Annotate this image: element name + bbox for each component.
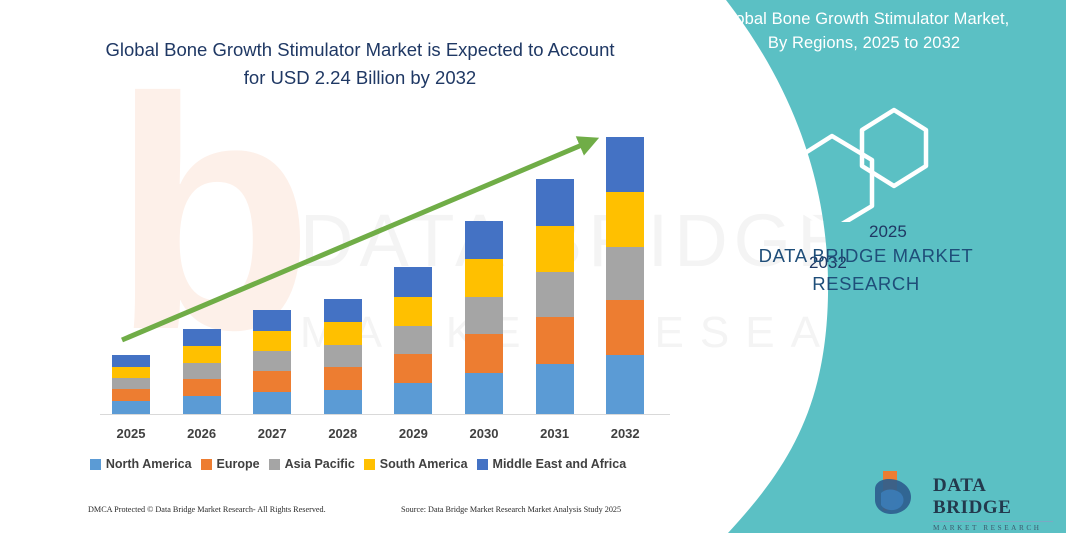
dbmr-logo-text: DATA BRIDGE MARKET RESEARCH (933, 475, 1056, 532)
regions-title-line-1: Global Bone Growth Stimulator Market, (719, 10, 1010, 28)
dbmr-logo: DATA BRIDGE MARKET RESEARCH (871, 467, 1056, 523)
regions-title-line-2: By Regions, 2025 to 2032 (684, 32, 1044, 56)
dbmr-logo-name: DATA BRIDGE (933, 475, 1056, 519)
chart-pane: b DATA BRIDGE MARKET RESEARCH Global Bon… (0, 0, 716, 533)
legend-swatch-icon (90, 459, 101, 470)
x-axis-label-2029: 2029 (383, 426, 443, 441)
x-axis-label-2032: 2032 (595, 426, 655, 441)
x-axis-label-2030: 2030 (454, 426, 514, 441)
legend-label: Asia Pacific (285, 457, 355, 471)
dbmr-logo-mark-icon (871, 467, 929, 519)
x-axis-label-2026: 2026 (172, 426, 232, 441)
legend-item: Middle East and Africa (477, 457, 627, 471)
brand-name: DATA BRIDGE MARKET RESEARCH (666, 242, 1066, 298)
x-axis-label-2025: 2025 (101, 426, 161, 441)
growth-trend-arrow (0, 0, 716, 470)
plot-area (0, 0, 716, 470)
infographic-root: b DATA BRIDGE MARKET RESEARCH Global Bon… (0, 0, 1066, 533)
hexagon-group: 2025 2032 (666, 92, 1066, 212)
dbmr-logo-subtitle: MARKET RESEARCH (933, 524, 1056, 532)
x-axis-labels: 20252026202720282029203020312032 (0, 426, 716, 446)
brand-line-1: DATA BRIDGE MARKET (666, 242, 1066, 270)
legend-item: Asia Pacific (269, 457, 355, 471)
footer: DMCA Protected © Data Bridge Market Rese… (0, 505, 716, 527)
legend-swatch-icon (269, 459, 280, 470)
chart-legend: North AmericaEuropeAsia PacificSouth Ame… (0, 457, 716, 471)
x-axis-label-2027: 2027 (242, 426, 302, 441)
legend-label: Europe (217, 457, 260, 471)
legend-label: North America (106, 457, 192, 471)
legend-item: Europe (201, 457, 260, 471)
legend-item: South America (364, 457, 468, 471)
legend-label: Middle East and Africa (493, 457, 627, 471)
regions-panel-content: Global Bone Growth Stimulator Market, By… (666, 0, 1066, 533)
brand-line-2: RESEARCH (666, 270, 1066, 298)
hexagon-label-2025: 2025 (869, 222, 907, 242)
legend-swatch-icon (477, 459, 488, 470)
footer-source: Source: Data Bridge Market Research Mark… (401, 505, 621, 514)
legend-item: North America (90, 457, 192, 471)
hexagon-shapes (666, 92, 1066, 222)
regions-panel-title: Global Bone Growth Stimulator Market, By… (684, 8, 1044, 56)
legend-swatch-icon (201, 459, 212, 470)
legend-swatch-icon (364, 459, 375, 470)
x-axis-label-2031: 2031 (525, 426, 585, 441)
x-axis-label-2028: 2028 (313, 426, 373, 441)
footer-copyright: DMCA Protected © Data Bridge Market Rese… (88, 505, 326, 514)
regions-panel: Global Bone Growth Stimulator Market, By… (666, 0, 1066, 533)
dbmr-logo-rule (933, 521, 1053, 522)
legend-label: South America (380, 457, 468, 471)
